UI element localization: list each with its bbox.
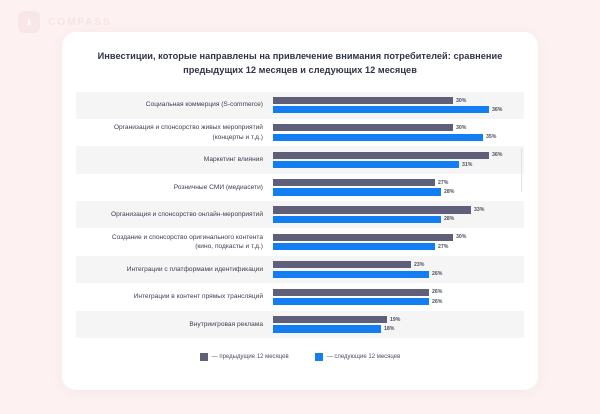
- bar-value-label: 26%: [432, 289, 442, 295]
- chart-card: Инвестиции, которые направлены на привле…: [62, 32, 538, 390]
- bar-previous: 26%: [273, 289, 524, 296]
- bar-previous: 27%: [273, 179, 524, 186]
- bar-rect: [273, 289, 429, 296]
- row-bars: 27%28%: [273, 174, 524, 201]
- bar-rect: [273, 134, 483, 141]
- bar-value-label: 26%: [432, 299, 442, 305]
- category-label: Организация и спонсорство онлайн-меропри…: [76, 210, 273, 220]
- category-label: Розничные СМИ (медиасети): [76, 183, 273, 193]
- legend-label-next: — следующие 12 месяцев: [327, 354, 401, 360]
- bar-next: 26%: [273, 298, 524, 305]
- bar-rect: [273, 298, 429, 305]
- bar-value-label: 28%: [444, 189, 454, 195]
- row-bars: 33%28%: [273, 201, 524, 228]
- bar-next: 35%: [273, 134, 524, 141]
- bar-next: 28%: [273, 216, 524, 223]
- bar-previous: 36%: [273, 152, 524, 159]
- compass-needle-icon: [18, 11, 40, 33]
- bar-next: 18%: [273, 325, 524, 332]
- bar-previous: 19%: [273, 316, 524, 323]
- row-bars: 19%18%: [273, 311, 524, 338]
- legend-label-previous: — предыдущие 12 месяцев: [212, 354, 289, 360]
- bar-rect: [273, 325, 381, 332]
- bar-rect: [273, 261, 411, 268]
- chart-row: Маркетинг влияния36%31%: [76, 146, 524, 173]
- bar-previous: 23%: [273, 261, 524, 268]
- bar-value-label: 26%: [432, 271, 442, 277]
- legend-item-next: — следующие 12 месяцев: [315, 353, 401, 361]
- bar-rect: [273, 316, 387, 323]
- chart-row: Внутриигровая реклама19%18%: [76, 311, 524, 338]
- bar-value-label: 28%: [444, 216, 454, 222]
- category-label: Маркетинг влияния: [76, 155, 273, 165]
- row-bars: 30%35%: [273, 119, 524, 146]
- category-label: Создание и спонсорство оригинального кон…: [76, 233, 273, 252]
- bar-rect: [273, 234, 453, 241]
- chart-row: Социальная коммерция (S-commerce)30%36%: [76, 92, 524, 119]
- legend-swatch-previous-icon: [200, 353, 208, 361]
- bar-value-label: 30%: [456, 125, 466, 131]
- category-label: Интеграции в контент прямых трансляций: [76, 292, 273, 302]
- chart-row: Интеграции с платформами идентификации23…: [76, 256, 524, 283]
- watermark-brand-text: COMPASS: [48, 16, 112, 28]
- category-label: Организация и спонсорство живых мероприя…: [76, 123, 273, 142]
- row-bars: 30%36%: [273, 92, 524, 119]
- bar-previous: 30%: [273, 124, 524, 131]
- bar-value-label: 33%: [474, 207, 484, 213]
- bar-rect: [273, 152, 489, 159]
- bar-next: 28%: [273, 188, 524, 195]
- bar-rect: [273, 161, 459, 168]
- bar-previous: 30%: [273, 234, 524, 241]
- category-label: Социальная коммерция (S-commerce): [76, 100, 273, 110]
- chart-row: Организация и спонсорство живых мероприя…: [76, 119, 524, 146]
- bar-value-label: 30%: [456, 98, 466, 104]
- bar-value-label: 19%: [390, 317, 400, 323]
- bar-value-label: 18%: [384, 326, 394, 332]
- category-label: Внутриигровая реклама: [76, 320, 273, 330]
- row-bars: 26%26%: [273, 283, 524, 310]
- bar-rect: [273, 206, 471, 213]
- bar-value-label: 27%: [438, 244, 448, 250]
- bar-rect: [273, 216, 441, 223]
- bar-rect: [273, 243, 435, 250]
- row-bars: 30%27%: [273, 228, 524, 255]
- chart-legend: — предыдущие 12 месяцев — следующие 12 м…: [76, 353, 524, 361]
- row-bars: 23%26%: [273, 256, 524, 283]
- scroll-rail[interactable]: [521, 148, 522, 192]
- bar-value-label: 30%: [456, 234, 466, 240]
- legend-swatch-next-icon: [315, 353, 323, 361]
- bar-next: 27%: [273, 243, 524, 250]
- bar-rect: [273, 124, 453, 131]
- legend-item-previous: — предыдущие 12 месяцев: [200, 353, 289, 361]
- bar-rect: [273, 179, 435, 186]
- bar-chart-plot: Социальная коммерция (S-commerce)30%36%О…: [76, 92, 524, 339]
- bar-value-label: 36%: [492, 107, 502, 113]
- bar-value-label: 27%: [438, 180, 448, 186]
- bar-value-label: 31%: [462, 162, 472, 168]
- bar-value-label: 35%: [486, 134, 496, 140]
- bar-next: 26%: [273, 271, 524, 278]
- bar-rect: [273, 188, 441, 195]
- bar-previous: 30%: [273, 97, 524, 104]
- chart-row: Создание и спонсорство оригинального кон…: [76, 228, 524, 255]
- bar-next: 36%: [273, 106, 524, 113]
- chart-row: Интеграции в контент прямых трансляций26…: [76, 283, 524, 310]
- category-label: Интеграции с платформами идентификации: [76, 265, 273, 275]
- bar-rect: [273, 271, 429, 278]
- chart-title: Инвестиции, которые направлены на привле…: [90, 49, 510, 78]
- row-bars: 36%31%: [273, 146, 524, 173]
- bar-rect: [273, 106, 489, 113]
- bar-value-label: 36%: [492, 152, 502, 158]
- chart-row: Организация и спонсорство онлайн-меропри…: [76, 201, 524, 228]
- chart-row: Розничные СМИ (медиасети)27%28%: [76, 174, 524, 201]
- compass-watermark: COMPASS: [18, 11, 112, 33]
- bar-value-label: 23%: [414, 262, 424, 268]
- bar-previous: 33%: [273, 206, 524, 213]
- bar-next: 31%: [273, 161, 524, 168]
- bar-rect: [273, 97, 453, 104]
